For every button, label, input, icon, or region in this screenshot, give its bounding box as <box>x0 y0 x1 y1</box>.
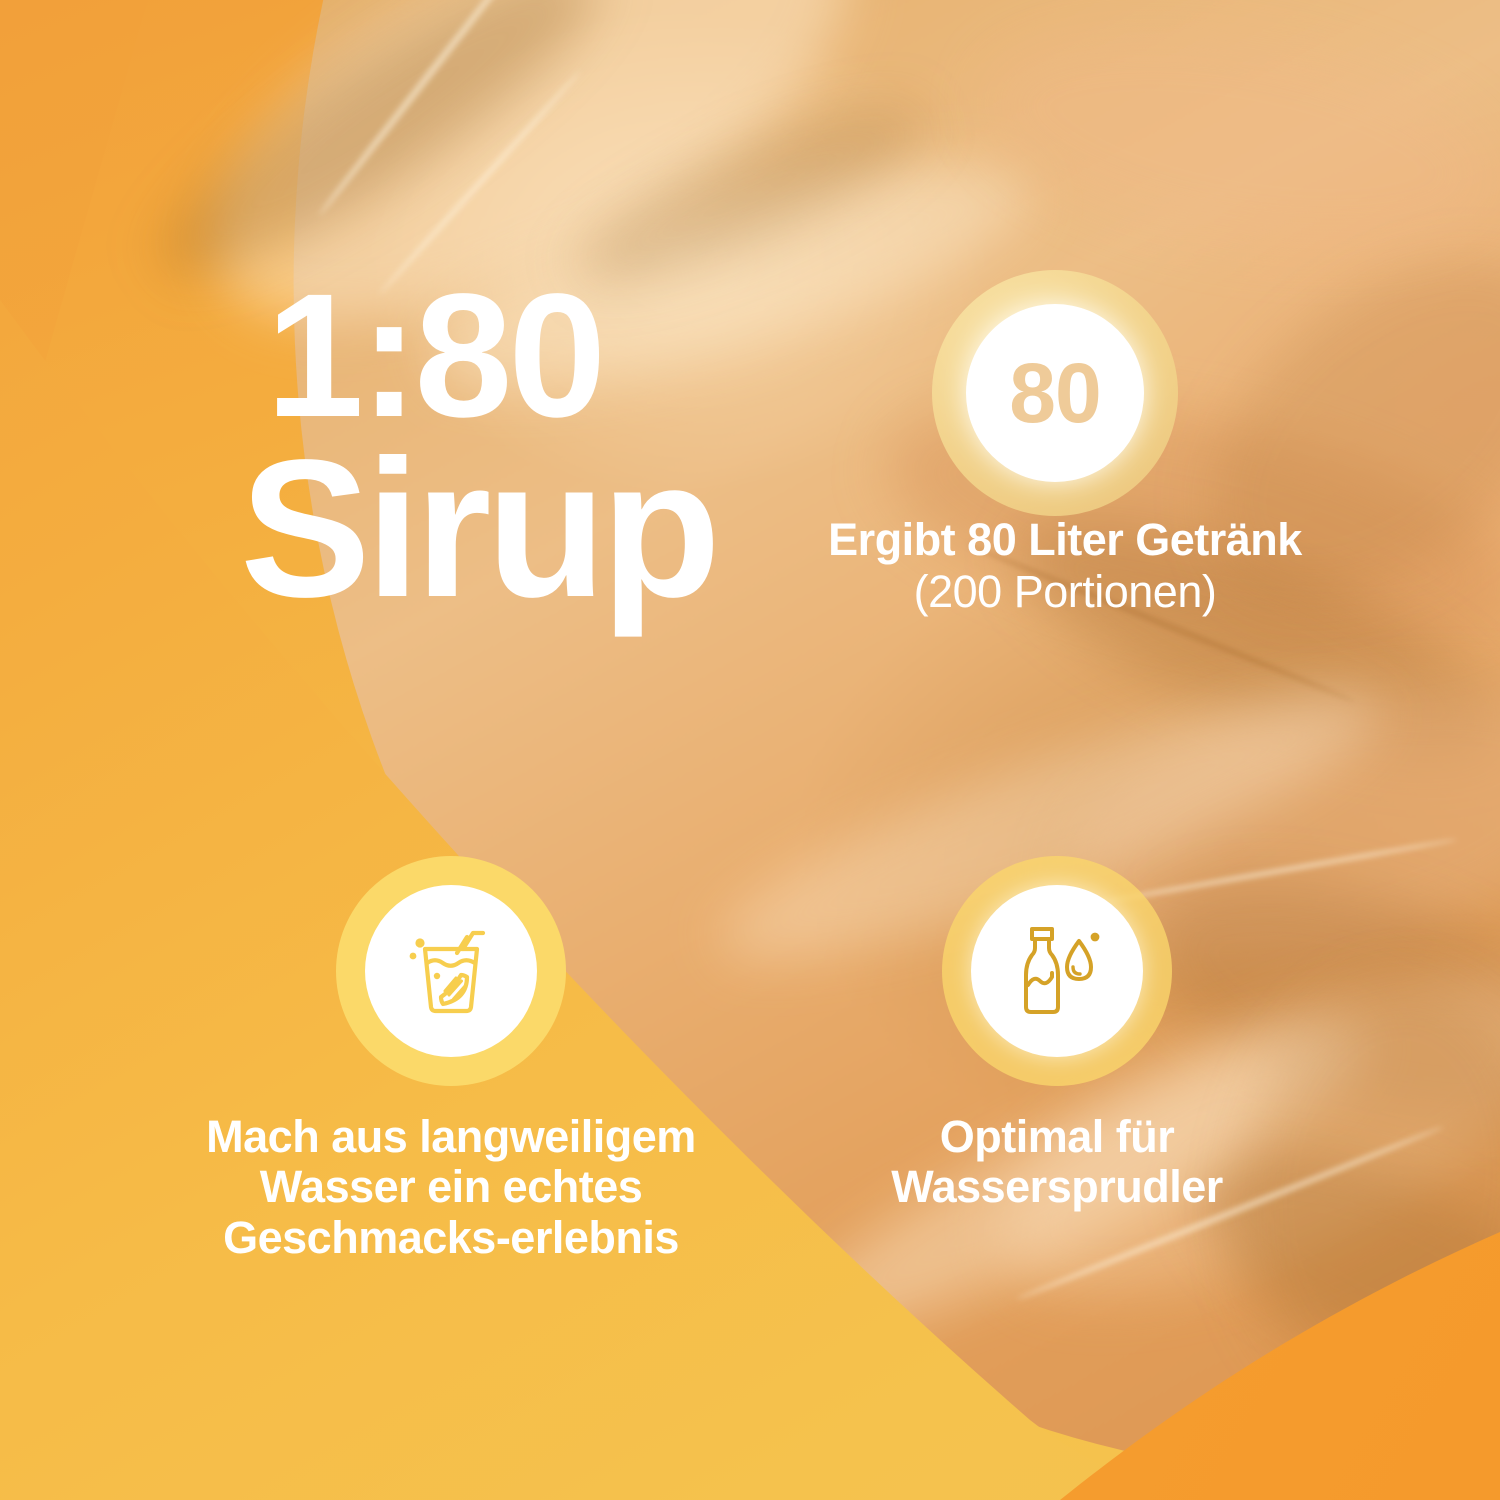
yield-badge: 80 <box>932 270 1178 516</box>
headline-ratio: 1:80 <box>266 272 806 441</box>
bottle-droplet-icon <box>1001 915 1113 1027</box>
sparkling-badge-inner <box>971 885 1143 1057</box>
taste-badge <box>336 856 566 1086</box>
headline-product: Sirup <box>240 435 806 623</box>
number-80-icon: 80 <box>1009 351 1100 435</box>
sparkling-badge <box>942 856 1172 1086</box>
drink-glass-icon <box>395 915 507 1027</box>
yield-caption-light: (200 Portionen) <box>820 568 1310 616</box>
headline: 1:80 Sirup <box>246 272 806 623</box>
yield-badge-inner: 80 <box>966 304 1144 482</box>
yield-caption-bold: Ergibt 80 Liter Getränk <box>820 516 1310 564</box>
taste-badge-inner <box>365 885 537 1057</box>
product-feature-poster: 1:80 Sirup 80 Ergibt 80 Liter Getränk (2… <box>0 0 1500 1500</box>
sparkling-caption: Optimal für Wassersprudler <box>812 1112 1302 1213</box>
taste-caption: Mach aus langweiligem Wasser ein echtes … <box>186 1112 716 1263</box>
yield-caption: Ergibt 80 Liter Getränk (200 Portionen) <box>820 516 1310 615</box>
